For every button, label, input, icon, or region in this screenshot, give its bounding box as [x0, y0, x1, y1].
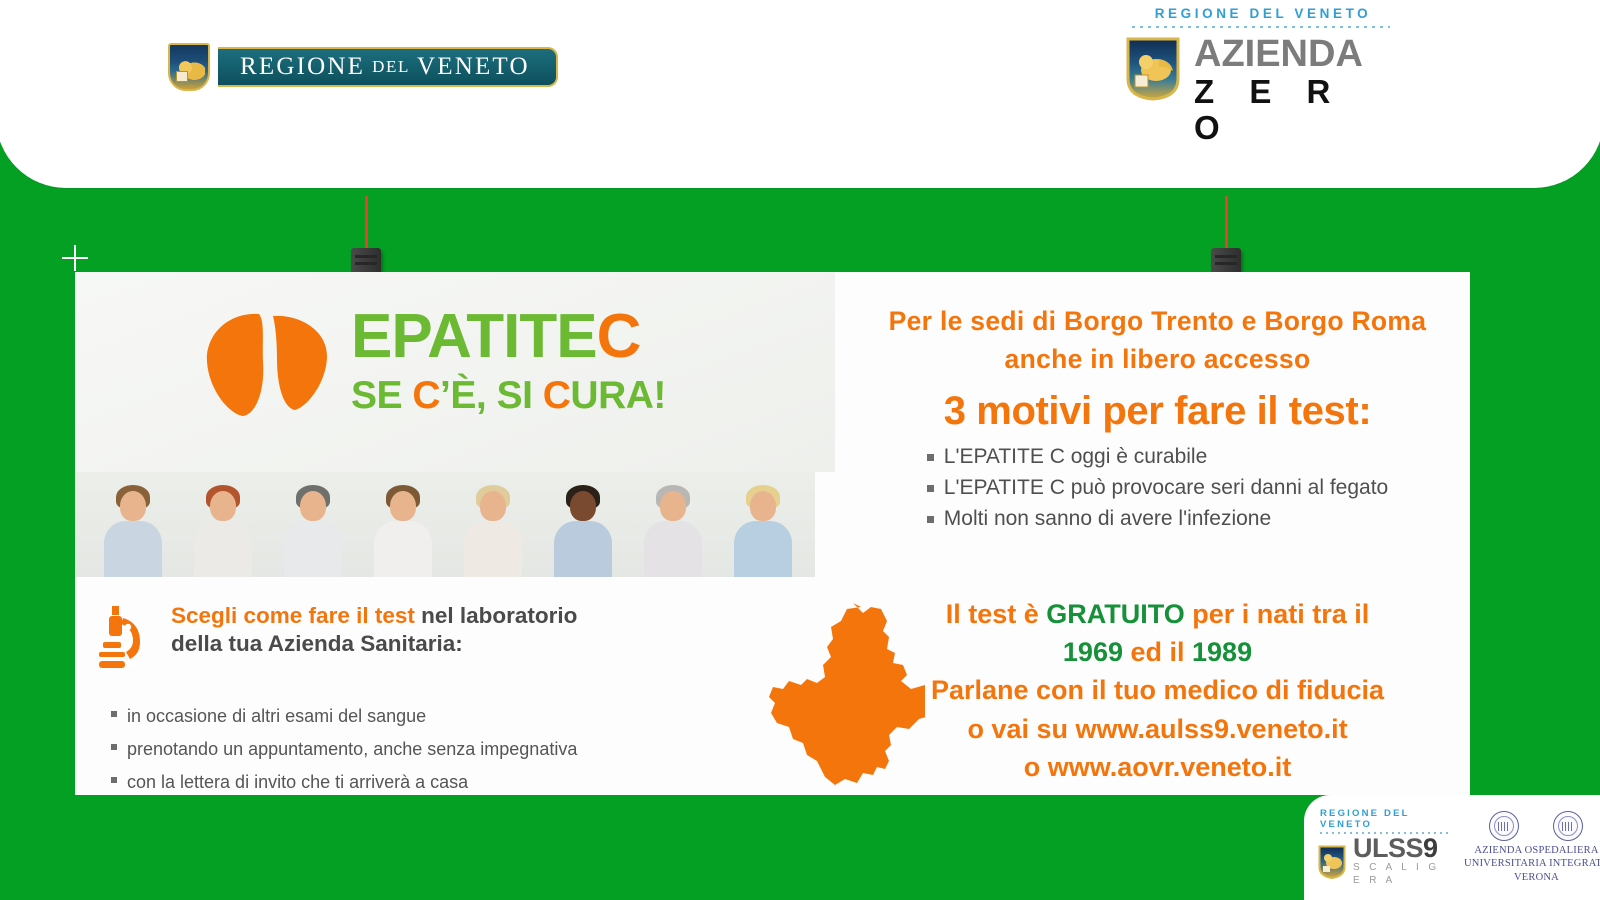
- birth-year-to: 1989: [1192, 637, 1252, 667]
- free-test-line-2: 1969 ed il 1989: [845, 633, 1470, 671]
- university-seal-icon: [1489, 811, 1519, 841]
- how-to-test-line-2: della tua Azienda Sanitaria:: [171, 630, 811, 658]
- aovr-logo: AZIENDA OSPEDALIERA UNIVERSITARIA INTEGR…: [1464, 811, 1600, 884]
- torso: [284, 521, 342, 577]
- rdv-word-regione: REGIONE: [240, 53, 365, 81]
- free-test-line-4: o vai su www.aulss9.veneto.it: [845, 710, 1470, 748]
- rdv-word-veneto: VENETO: [417, 53, 530, 81]
- campaign-title-word: EPATITE: [351, 302, 597, 371]
- person-portrait: [637, 485, 709, 577]
- free-test-line-5: o www.aovr.veneto.it: [845, 748, 1470, 786]
- ulss9-logo: REGIONE DEL VENETO ULSS9: [1318, 808, 1448, 887]
- veneto-lion-shield-icon: [1318, 845, 1346, 879]
- campaign-subtitle: SE C’È, SI CURA!: [351, 376, 666, 415]
- campaign-title: EPATITEC SE C’È, SI CURA!: [351, 306, 666, 415]
- torso: [644, 521, 702, 577]
- person-portrait: [547, 485, 619, 577]
- how-to-test-highlight: Scegli come fare il test: [171, 603, 415, 628]
- veneto-lion-shield-icon: [1126, 37, 1180, 101]
- partner-logos-bar: REGIONE DEL VENETO ULSS9: [1304, 795, 1600, 900]
- azienda-zero-name: AZIENDA: [1194, 37, 1396, 72]
- free-test-line-1: Il test è GRATUITO per i nati tra il: [845, 595, 1470, 633]
- subtitle-part-1: SE: [351, 374, 412, 417]
- list-item: L'EPATITE C può provocare seri danni al …: [927, 473, 1388, 504]
- ulss9-wordmark: ULSS9: [1353, 837, 1448, 861]
- subtitle-c-2: C: [543, 374, 571, 417]
- aovr-line-3: VERONA: [1514, 871, 1559, 884]
- face: [120, 491, 146, 521]
- liver-droplet-icon: [203, 310, 331, 418]
- azienda-zero-logo: REGIONE DEL VENETO AZIEN: [1126, 6, 1396, 147]
- face: [300, 491, 326, 521]
- poster-right-column: Per le sedi di Borgo Trento e Borgo Roma…: [845, 272, 1470, 795]
- locations-headline-line-2: anche in libero accesso: [845, 342, 1470, 378]
- campaign-title-main: EPATITEC: [351, 306, 666, 368]
- reasons-list: L'EPATITE C oggi è curabile L'EPATITE C …: [927, 442, 1388, 535]
- regione-del-veneto-wordmark: REGIONE DEL VENETO: [218, 47, 558, 87]
- how-to-test-heading: Scegli come fare il test nel laboratorio…: [171, 602, 811, 659]
- dotted-divider: [1132, 26, 1390, 28]
- ulss-number: 9: [1423, 833, 1438, 863]
- person-portrait: [277, 485, 349, 577]
- face: [210, 491, 236, 521]
- face: [660, 491, 686, 521]
- ulss-top-line: REGIONE DEL VENETO: [1318, 808, 1448, 830]
- person-portrait: [367, 485, 439, 577]
- people-photo-strip: [75, 472, 815, 577]
- birth-year-conjunction: ed il: [1123, 637, 1192, 667]
- registration-mark: [62, 245, 88, 271]
- face: [570, 491, 596, 521]
- person-portrait: [187, 485, 259, 577]
- list-item: Molti non sanno di avere l'infezione: [927, 504, 1388, 535]
- rdv-word-del: DEL: [372, 57, 410, 77]
- torso: [374, 521, 432, 577]
- aovr-seals: [1489, 811, 1583, 841]
- torso: [194, 521, 252, 577]
- free-test-block: Il test è GRATUITO per i nati tra il 196…: [845, 595, 1470, 787]
- face: [750, 491, 776, 521]
- locations-headline-line-1: Per le sedi di Borgo Trento e Borgo Roma: [845, 304, 1470, 340]
- birth-year-from: 1969: [1063, 637, 1123, 667]
- aovr-line-1: AZIENDA OSPEDALIERA: [1474, 844, 1598, 857]
- header-panel: REGIONE DEL VENETO REGIONE DEL VENETO: [0, 0, 1600, 188]
- face: [390, 491, 416, 521]
- ulss-name: ULSS: [1353, 833, 1423, 863]
- person-portrait: [457, 485, 529, 577]
- free-test-line-3: Parlane con il tuo medico di fiducia: [845, 671, 1470, 709]
- subtitle-c-1: C: [412, 374, 440, 417]
- aovr-line-2: UNIVERSITARIA INTEGRATA: [1464, 857, 1600, 870]
- how-to-test-bullet-list: in occasione di altri esami del sangue p…: [111, 700, 811, 795]
- reasons-title: 3 motivi per fare il test:: [845, 389, 1470, 434]
- person-portrait: [727, 485, 799, 577]
- list-item: prenotando un appuntamento, anche senza …: [111, 733, 811, 766]
- poster-left-column: EPATITEC SE C’È, SI CURA!: [75, 272, 835, 795]
- ulss-subtitle: S C A L I G E R A: [1353, 861, 1448, 887]
- hospital-seal-icon: [1553, 811, 1583, 841]
- torso: [554, 521, 612, 577]
- azienda-zero-subname: Z E R O: [1194, 74, 1396, 147]
- campaign-banner: EPATITEC SE C’È, SI CURA!: [75, 272, 835, 472]
- azienda-zero-top-line: REGIONE DEL VENETO: [1126, 6, 1396, 21]
- veneto-lion-shield-icon: [168, 43, 210, 91]
- person-portrait: [97, 485, 169, 577]
- how-to-test-line-1: Scegli come fare il test nel laboratorio: [171, 602, 811, 630]
- free-test-gratuito: GRATUITO: [1046, 599, 1185, 629]
- face: [480, 491, 506, 521]
- list-item: L'EPATITE C oggi è curabile: [927, 442, 1388, 473]
- free-test-suffix: per i nati tra il: [1185, 599, 1370, 629]
- free-test-prefix: Il test è: [946, 599, 1047, 629]
- torso: [734, 521, 792, 577]
- poster: EPATITEC SE C’È, SI CURA!: [75, 272, 1470, 795]
- list-item: in occasione di altri esami del sangue: [111, 700, 811, 733]
- torso: [464, 521, 522, 577]
- list-item: con la lettera di invito che ti arriverà…: [111, 766, 811, 796]
- regione-del-veneto-logo: REGIONE DEL VENETO: [168, 43, 558, 91]
- torso: [104, 521, 162, 577]
- subtitle-part-2: ’È, SI: [440, 374, 543, 417]
- microscope-icon: [97, 606, 149, 672]
- how-to-test-rest: nel laboratorio: [415, 603, 578, 628]
- campaign-title-letter-c: C: [597, 302, 641, 371]
- subtitle-part-3: URA!: [570, 374, 665, 417]
